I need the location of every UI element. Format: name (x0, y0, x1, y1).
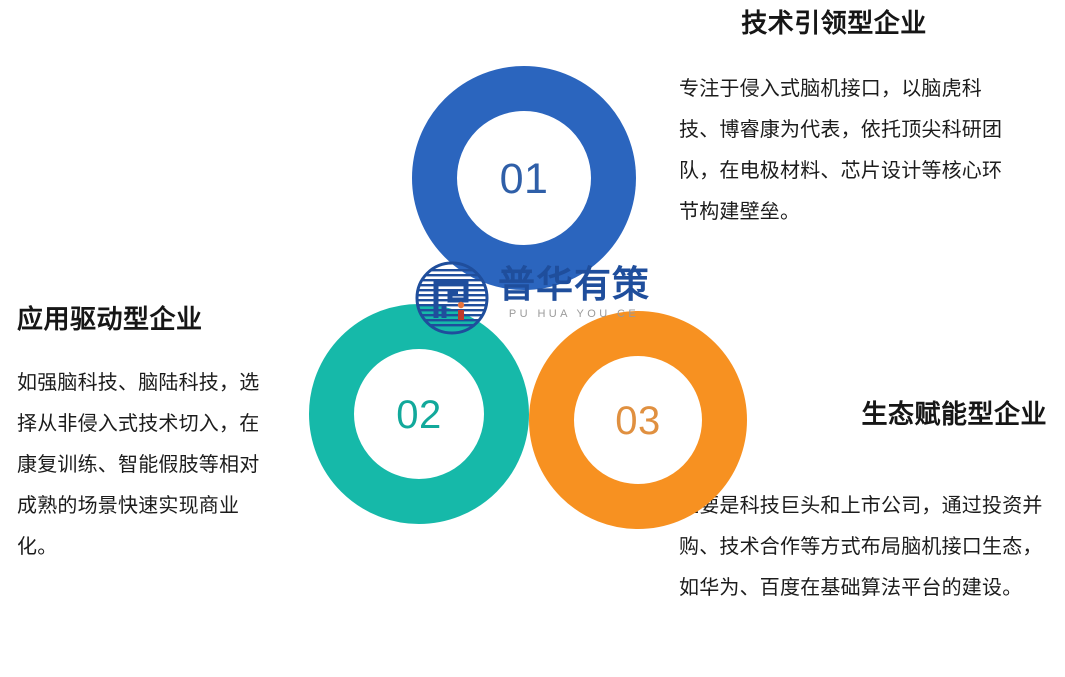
ring-03: 03 (529, 311, 747, 529)
ring-01: 01 (412, 66, 636, 290)
section-01-body: 专注于侵入式脑机接口，以脑虎科技、博睿康为代表，依托顶尖科研团队，在电极材料、芯… (679, 69, 1021, 233)
section-01: 技术引领型企业 专注于侵入式脑机接口，以脑虎科技、博睿康为代表，依托顶尖科研团队… (679, 8, 1031, 233)
infographic-canvas: 01 02 03 技术引领型企业 专注于侵入式脑机接口，以脑虎科技、博睿康为代表… (0, 0, 1065, 677)
section-02-body: 如强脑科技、脑陆科技，选择从非侵入式技术切入，在康复训练、智能假肢等相对成熟的场… (17, 363, 273, 568)
section-02: 应用驱动型企业 如强脑科技、脑陆科技，选择从非侵入式技术切入，在康复训练、智能假… (17, 304, 282, 568)
ring-03-number: 03 (615, 401, 661, 441)
section-02-title: 应用驱动型企业 (17, 304, 282, 335)
section-03-body: 主要是科技巨头和上市公司，通过投资并购、技术合作等方式布局脑机接口生态，如华为、… (679, 486, 1047, 609)
ring-01-number: 01 (500, 158, 549, 201)
ring-02: 02 (309, 304, 529, 524)
section-01-title: 技术引领型企业 (679, 8, 989, 39)
ring-02-number: 02 (396, 395, 442, 435)
